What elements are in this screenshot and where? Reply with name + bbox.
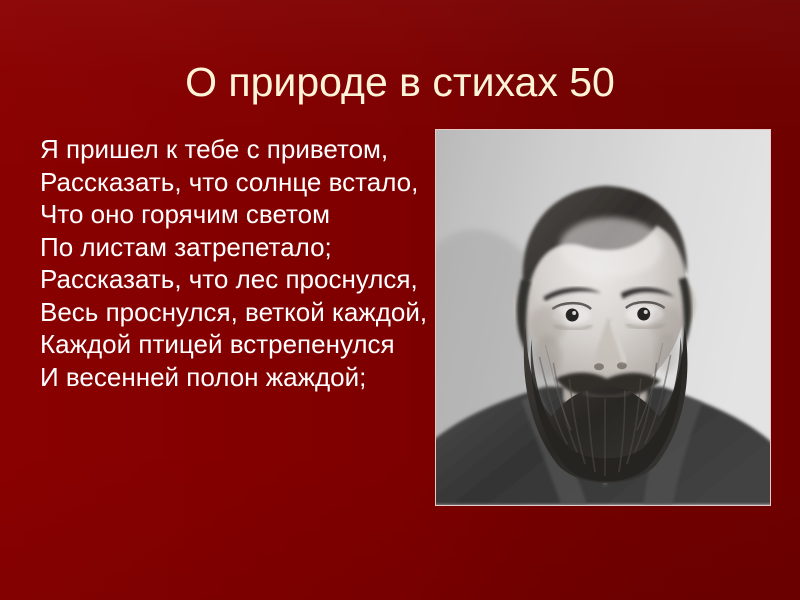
poem-text-block: Я пришел к тебе с приветом, Рассказать, …	[40, 134, 432, 394]
page-title: О природе в стихах 50	[0, 57, 800, 107]
poem-line: Я пришел к тебе с приветом,	[40, 134, 432, 166]
poem-line: Рассказать, что лес проснулся,	[40, 264, 432, 296]
poem-line: И весенней полон жаждой;	[40, 362, 432, 394]
portrait-image	[435, 129, 771, 506]
poem-line: По листам затрепетало;	[40, 232, 432, 264]
portrait-illustration	[436, 130, 770, 505]
poem-line: Весь проснулся, веткой каждой,	[40, 297, 432, 329]
poem-line: Рассказать, что солнце встало,	[40, 167, 432, 199]
poem-line: Каждой птицей встрепенулся	[40, 329, 432, 361]
poem-line: Что оно горячим светом	[40, 199, 432, 231]
presentation-slide: О природе в стихах 50 Я пришел к тебе с …	[0, 0, 800, 600]
